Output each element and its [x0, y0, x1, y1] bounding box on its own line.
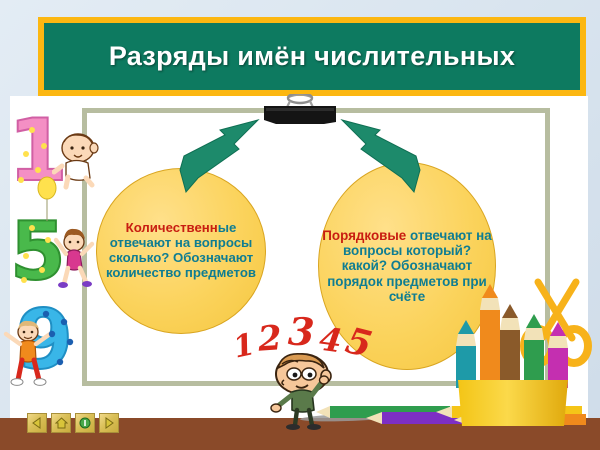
balloon-icon: [34, 176, 60, 222]
title-board: Разряды имён числительных: [44, 23, 580, 90]
presentation-slide: Разряды имён числительных 1 5: [0, 0, 600, 450]
bubble-ordinal-lead: Порядковые: [322, 228, 406, 243]
next-slide-button[interactable]: [99, 413, 119, 433]
boy-figure-icon: [2, 318, 54, 388]
triangle-left-icon: [31, 417, 43, 429]
home-icon: [55, 417, 68, 429]
pencil-cup-with-supplies: [452, 276, 600, 426]
info-slide-button[interactable]: [75, 413, 95, 433]
arrow-down-left-icon: [180, 120, 258, 192]
slide-navigation-bar: [27, 413, 119, 433]
girl-figure-icon: [52, 226, 98, 290]
pencil-green: [524, 314, 544, 388]
handwritten-number-3: 3: [287, 309, 315, 355]
bubble-cardinal-text: Количественные отвечают на вопросы сколь…: [97, 221, 265, 280]
page-title: Разряды имён числительных: [109, 41, 515, 72]
info-icon: [79, 417, 91, 429]
pencil-brown: [500, 304, 520, 388]
binder-clip-icon: [262, 94, 338, 128]
decor-number-five: 5: [10, 212, 66, 292]
previous-slide-button[interactable]: [27, 413, 47, 433]
bubble-cardinal-lead: Количественн: [126, 220, 218, 235]
diverging-arrows: [170, 118, 430, 194]
handwritten-numbers: 1 2 3 4 5: [232, 312, 373, 357]
triangle-right-icon: [103, 417, 115, 429]
pencil-teal: [456, 320, 476, 388]
pencil-orange: [480, 284, 500, 386]
home-slide-button[interactable]: [51, 413, 71, 433]
arrow-down-right-icon: [342, 120, 420, 192]
title-frame: Разряды имён числительных: [38, 17, 586, 96]
decor-number-nine: 9: [16, 300, 73, 382]
